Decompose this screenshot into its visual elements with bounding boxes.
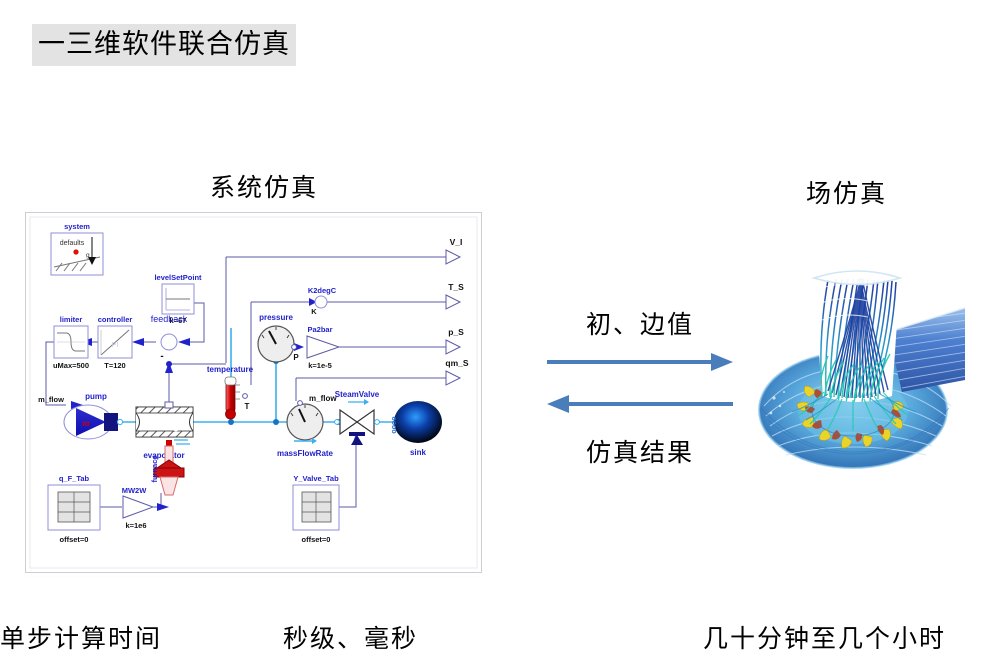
cfd-result-image[interactable]	[752, 250, 965, 488]
component-label-y-valve-tab: Y_Valve_Tab	[293, 474, 339, 483]
component-label-temperature: temperature	[207, 365, 254, 374]
caption-system-simulation: 系统仿真	[210, 168, 318, 204]
component-param-controller: T=120	[104, 361, 125, 370]
component-label-sink: sink	[410, 448, 427, 457]
component-label-limiter: limiter	[60, 315, 83, 324]
component-param-pa2bar: k=1e-5	[308, 361, 332, 370]
output-port-label-2: p_S	[448, 327, 464, 337]
caption-field-simulation: 场仿真	[806, 174, 887, 210]
component-label-furnace: furnace	[150, 455, 159, 482]
component-sub-pump: m	[82, 418, 89, 428]
component-label-q-f-tab: q_F_Tab	[59, 474, 90, 483]
component-label-pa2bar: Pa2bar	[307, 325, 332, 334]
modelica-diagram-panel[interactable]: system defaults g levelSetPoint k=67 lim…	[25, 212, 482, 573]
component-label-levelsetpoint: levelSetPoint	[154, 273, 202, 282]
component-label-k2degc: K2degC	[308, 286, 337, 295]
component-label-massflowrate: massFlowRate	[277, 449, 334, 458]
component-sub-controller: PI	[112, 342, 119, 349]
exchange-label-simulation-results: 仿真结果	[545, 433, 735, 469]
exchange-label-initial-boundary: 初、边值	[545, 305, 735, 341]
component-label-mw2w: MW2W	[122, 486, 147, 495]
data-exchange-block: 初、边值 仿真结果	[545, 305, 735, 475]
component-label-feedback: feedback	[151, 314, 188, 324]
component-label-steamvalve: SteamValve	[335, 390, 380, 399]
component-label-pressure: pressure	[259, 313, 293, 322]
component-port-temperature: T	[245, 402, 250, 411]
cfd-streamline-render	[752, 250, 965, 488]
component-param-limiter: uMax=500	[53, 361, 89, 370]
svg-text:oooo: oooo	[391, 416, 398, 433]
arrow-forward	[545, 351, 735, 373]
output-port-label-3: qm_S	[445, 358, 468, 368]
component-label-system: system	[64, 222, 90, 231]
svg-text:g: g	[86, 252, 90, 259]
modelica-diagram-canvas: system defaults g levelSetPoint k=67 lim…	[26, 213, 481, 572]
bottom-metric-label: 单步计算时间	[0, 619, 162, 655]
component-port-massflowrate: m_flow	[309, 394, 337, 403]
output-port-label-1: T_S	[448, 282, 464, 292]
output-port-label-0: V_I	[450, 237, 463, 247]
bottom-field-value: 几十分钟至几个小时	[703, 619, 946, 655]
bottom-system-value: 秒级、毫秒	[283, 619, 418, 655]
component-port-k2degc: K	[311, 307, 317, 316]
component-param-y-valve-tab: offset=0	[302, 535, 331, 544]
component-param-mw2w: k=1e6	[125, 521, 146, 530]
component-port-pressure: P	[293, 353, 299, 362]
component-label-pump: pump	[85, 392, 107, 401]
arrow-backward	[545, 393, 735, 415]
component-sub-system: defaults	[60, 240, 85, 247]
slide-title: 一三维软件联合仿真	[32, 24, 296, 66]
component-param-q-f-tab: offset=0	[60, 535, 89, 544]
component-label-controller: controller	[98, 315, 133, 324]
component-port-pump-mflow: m_flow	[38, 395, 64, 404]
component-sub-feedback: -	[160, 351, 163, 362]
